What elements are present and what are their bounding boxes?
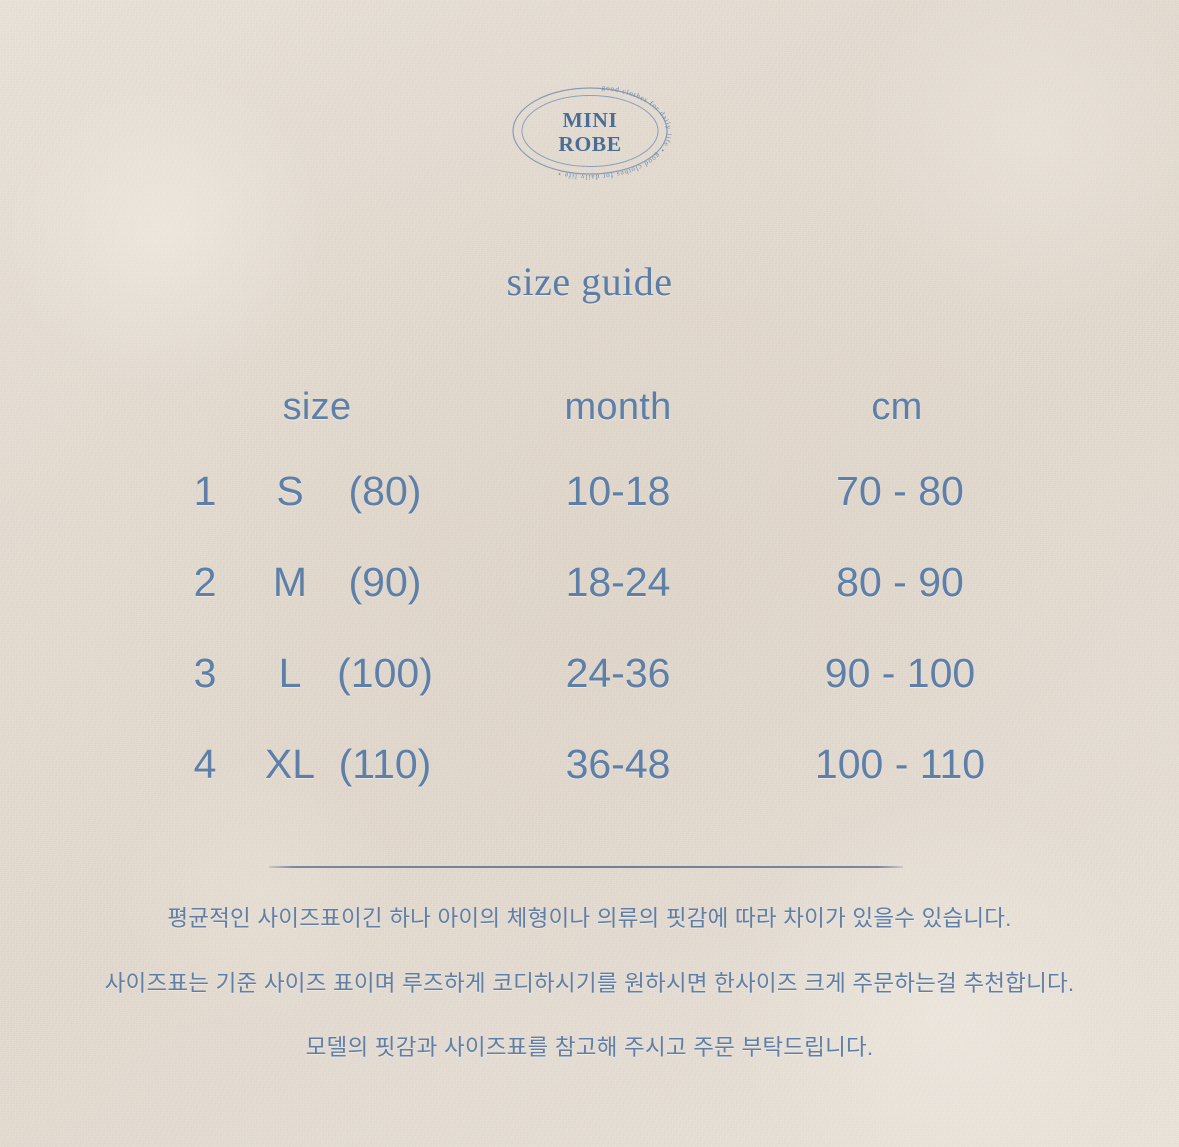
size-table: size month cm 1 S (80) 10-18 70 - 80 2 M… — [0, 378, 1179, 832]
column-header-cm: cm — [797, 386, 997, 429]
cell-size-kr: (100) — [325, 650, 445, 697]
note-line: 평균적인 사이즈표이긴 하나 아이의 체형이나 의류의 핏감에 따라 차이가 있… — [0, 908, 1179, 931]
table-row: 1 S (80) 10-18 70 - 80 — [0, 468, 1179, 559]
cell-size-number: 4 — [165, 741, 245, 788]
cell-size-letter: S — [250, 468, 330, 515]
cell-size-kr: (80) — [325, 468, 445, 515]
cell-size-number: 1 — [165, 468, 245, 515]
page-title-text: size guide — [506, 259, 672, 304]
cell-month-range: 36-48 — [518, 741, 718, 788]
table-header-row: size month cm — [0, 378, 1179, 468]
cell-size-kr: (90) — [325, 559, 445, 606]
table-row: 3 L (100) 24-36 90 - 100 — [0, 650, 1179, 741]
page-title: size guide — [0, 258, 1179, 305]
cell-size-letter: XL — [250, 741, 330, 788]
table-row: 2 M (90) 18-24 80 - 90 — [0, 559, 1179, 650]
mini-robe-stamp-icon: good clothes for daily life • good cloth… — [500, 76, 680, 186]
cell-size-letter: L — [250, 650, 330, 697]
cell-cm-range: 90 - 100 — [790, 650, 1010, 697]
cell-month-range: 10-18 — [518, 468, 718, 515]
cell-size-letter: M — [250, 559, 330, 606]
column-header-size: size — [217, 386, 417, 429]
note-line: 모델의 핏감과 사이즈표를 참고해 주시고 주문 부탁드립니다. — [0, 1037, 1179, 1060]
footer-notes: 평균적인 사이즈표이긴 하나 아이의 체형이나 의류의 핏감에 따라 차이가 있… — [0, 900, 1179, 1060]
section-divider — [269, 866, 903, 868]
brand-name-line1: MINI — [562, 108, 617, 132]
cell-month-range: 24-36 — [518, 650, 718, 697]
size-guide-page: good clothes for daily life • good cloth… — [0, 0, 1179, 1147]
cell-cm-range: 80 - 90 — [790, 559, 1010, 606]
column-header-month: month — [518, 386, 718, 429]
cell-month-range: 18-24 — [518, 559, 718, 606]
brand-logo: good clothes for daily life • good cloth… — [0, 76, 1179, 186]
brand-name-line2: ROBE — [558, 132, 621, 156]
cell-cm-range: 100 - 110 — [790, 741, 1010, 788]
table-row: 4 XL (110) 36-48 100 - 110 — [0, 741, 1179, 832]
cell-cm-range: 70 - 80 — [790, 468, 1010, 515]
cell-size-number: 2 — [165, 559, 245, 606]
cell-size-number: 3 — [165, 650, 245, 697]
cell-size-kr: (110) — [325, 741, 445, 788]
note-line: 사이즈표는 기준 사이즈 표이며 루즈하게 코디하시기를 원하시면 한사이즈 크… — [0, 973, 1179, 996]
